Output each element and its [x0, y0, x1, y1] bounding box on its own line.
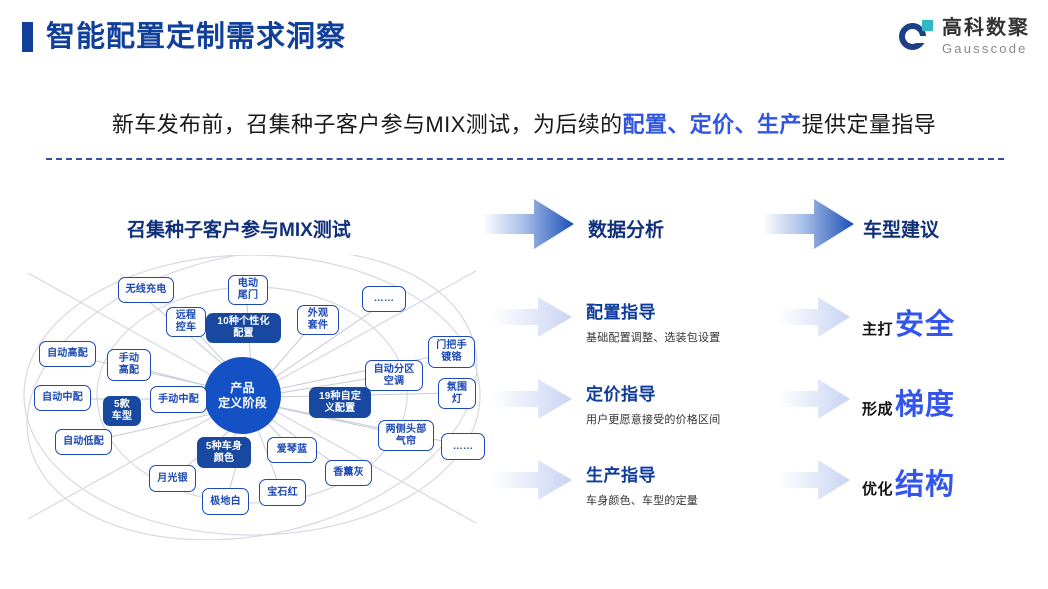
subtitle-pre: 新车发布前，召集种子客户参与MIX测试，为后续的	[112, 112, 623, 137]
mindmap-node-label-line1: 外观	[308, 308, 328, 319]
guide-title: 生产指导	[586, 461, 698, 486]
mindmap-node-label-line2: 义配置	[325, 403, 356, 414]
flow-arrow-pricing-icon	[492, 378, 572, 420]
mindmap-node-label-line2: 颜色	[214, 453, 234, 464]
brand-logo: 高科数聚 Gausscode	[899, 18, 1030, 55]
mindmap-node-label-line1: 氛围	[447, 382, 467, 393]
mindmap-node-label-line2: 镀铬	[441, 352, 461, 363]
mindmap-node-label: 极地白	[210, 496, 241, 508]
mindmap-diagram: 产品 定义阶段 无线充电电动尾门……远程控车外观套件10种个性化配置门把手镀铬自…	[14, 255, 494, 540]
mindmap-node: 爱琴蓝	[267, 437, 317, 463]
result-keyword: 安全	[895, 301, 955, 343]
mindmap-node-label-line2: 车型	[112, 411, 132, 422]
guide-title: 配置指导	[586, 298, 720, 323]
title-accent-bar	[22, 22, 33, 52]
mindmap-node-label-line1: 电动	[238, 278, 258, 289]
mindmap-node: 宝石红	[259, 479, 306, 506]
page-title: 智能配置定制需求洞察	[46, 20, 346, 54]
gausscode-logo-icon	[899, 20, 933, 54]
mindmap-node-label: ……	[374, 293, 394, 305]
result-item: 主打安全	[862, 301, 955, 343]
mindmap-node-label-line1: 10种个性化	[217, 316, 269, 327]
mindmap-center-node: 产品 定义阶段	[204, 357, 281, 434]
mindmap-node: 5款车型	[103, 396, 141, 426]
mindmap-node-label: 手动中配	[158, 394, 199, 406]
result-prefix: 主打	[862, 318, 893, 339]
mindmap-node-label: 爱琴蓝	[277, 444, 308, 456]
mindmap-node-label: 香薰灰	[333, 467, 364, 479]
mindmap-node: 自动分区空调	[365, 360, 423, 391]
mindmap-node-label-line2: 配置	[233, 328, 253, 339]
mindmap-node: 香薰灰	[325, 460, 372, 486]
flow-arrow-safety-icon	[778, 296, 850, 338]
mindmap-node: 远程控车	[166, 307, 206, 337]
mindmap-node-label-line2: 空调	[384, 376, 404, 387]
mindmap-node-label-line1: 远程	[176, 310, 196, 321]
mindmap-node: 电动尾门	[228, 275, 268, 305]
mindmap-node-label-line2: 尾门	[238, 290, 258, 301]
mindmap-node: 门把手镀铬	[428, 336, 475, 368]
mindmap-node: 极地白	[202, 488, 249, 515]
mindmap-node: ……	[362, 286, 406, 312]
mindmap-node-label-line2: 控车	[176, 322, 196, 333]
guide-item: 定价指导用户更愿意接受的价格区间	[586, 380, 720, 427]
mindmap-node: 氛围灯	[438, 378, 476, 409]
mindmap-node: ……	[441, 433, 485, 460]
mindmap-node: 两侧头部气帘	[378, 420, 434, 451]
result-prefix: 形成	[862, 398, 893, 419]
page-header: 智能配置定制需求洞察 高科数聚 Gausscode	[0, 0, 1048, 78]
flow-arrow-structure-icon	[778, 459, 850, 501]
mindmap-node: 自动中配	[34, 385, 91, 411]
mindmap-node-label-line1: 5款	[114, 399, 130, 410]
guide-description: 车身颜色、车型的定量	[586, 492, 698, 508]
mindmap-node-label-line1: 手动	[119, 353, 139, 364]
logo-name-en: Gausscode	[942, 42, 1030, 55]
mindmap-node: 自动高配	[39, 341, 96, 367]
mindmap-node: 5种车身颜色	[197, 437, 251, 468]
guide-item: 生产指导车身颜色、车型的定量	[586, 461, 698, 508]
mindmap-node: 手动高配	[107, 349, 151, 381]
mindmap-node: 月光银	[149, 465, 196, 492]
mindmap-node-label: 自动高配	[47, 348, 88, 360]
result-item: 优化结构	[862, 461, 955, 503]
mindmap-node: 自动低配	[55, 429, 112, 455]
header-arrow-1-icon	[482, 198, 574, 250]
mindmap-node: 外观套件	[297, 305, 339, 335]
mindmap-node-label: ……	[453, 441, 473, 453]
mindmap-node-label-line2: 高配	[119, 365, 139, 376]
mindmap-node: 19种自定义配置	[309, 387, 371, 418]
center-label-line2: 定义阶段	[218, 396, 267, 410]
result-keyword: 结构	[895, 461, 955, 503]
mindmap-node-label: 宝石红	[267, 487, 298, 499]
mindmap-node-label-line2: 套件	[308, 320, 328, 331]
mindmap-node-label: 自动低配	[63, 436, 104, 448]
guide-description: 基础配置调整、选装包设置	[586, 329, 720, 345]
mindmap-node-label-line2: 灯	[452, 394, 462, 405]
column-heading-recommendation: 车型建议	[863, 215, 939, 242]
result-keyword: 梯度	[895, 381, 955, 423]
mindmap-node-label-line1: 19种自定	[319, 391, 361, 402]
mindmap-node: 10种个性化配置	[206, 313, 281, 343]
column-heading-collect: 召集种子客户参与MIX测试	[127, 215, 351, 242]
guide-title: 定价指导	[586, 380, 720, 405]
result-prefix: 优化	[862, 478, 893, 499]
guide-item: 配置指导基础配置调整、选装包设置	[586, 298, 720, 345]
flow-arrow-gradient-icon	[778, 378, 850, 420]
logo-square-icon	[922, 20, 933, 31]
mindmap-node-label: 自动中配	[42, 392, 83, 404]
mindmap-node-label-line1: 自动分区	[374, 364, 415, 375]
mindmap-node-label: 无线充电	[126, 284, 167, 296]
center-label-line1: 产品	[230, 381, 254, 395]
mindmap-node-label-line1: 5种车身	[206, 441, 242, 452]
mindmap-node: 无线充电	[118, 277, 174, 303]
flow-arrow-production-icon	[492, 459, 572, 501]
flow-arrow-config-icon	[492, 296, 572, 338]
logo-name-cn: 高科数聚	[942, 18, 1030, 38]
mindmap-node-label-line1: 门把手	[436, 340, 467, 351]
mindmap-node-label-line2: 气帘	[396, 436, 416, 447]
header-arrow-2-icon	[762, 198, 854, 250]
mindmap-node: 手动中配	[150, 386, 207, 413]
result-item: 形成梯度	[862, 381, 955, 423]
subtitle-highlight: 配置、定价、生产	[623, 112, 802, 137]
subtitle: 新车发布前，召集种子客户参与MIX测试，为后续的配置、定价、生产提供定量指导	[0, 107, 1048, 139]
subtitle-post: 提供定量指导	[802, 112, 936, 137]
column-heading-analysis: 数据分析	[588, 215, 664, 242]
mindmap-node-label: 月光银	[157, 473, 188, 485]
section-divider	[46, 158, 1004, 160]
guide-description: 用户更愿意接受的价格区间	[586, 411, 720, 427]
mindmap-node-label-line1: 两侧头部	[386, 424, 427, 435]
